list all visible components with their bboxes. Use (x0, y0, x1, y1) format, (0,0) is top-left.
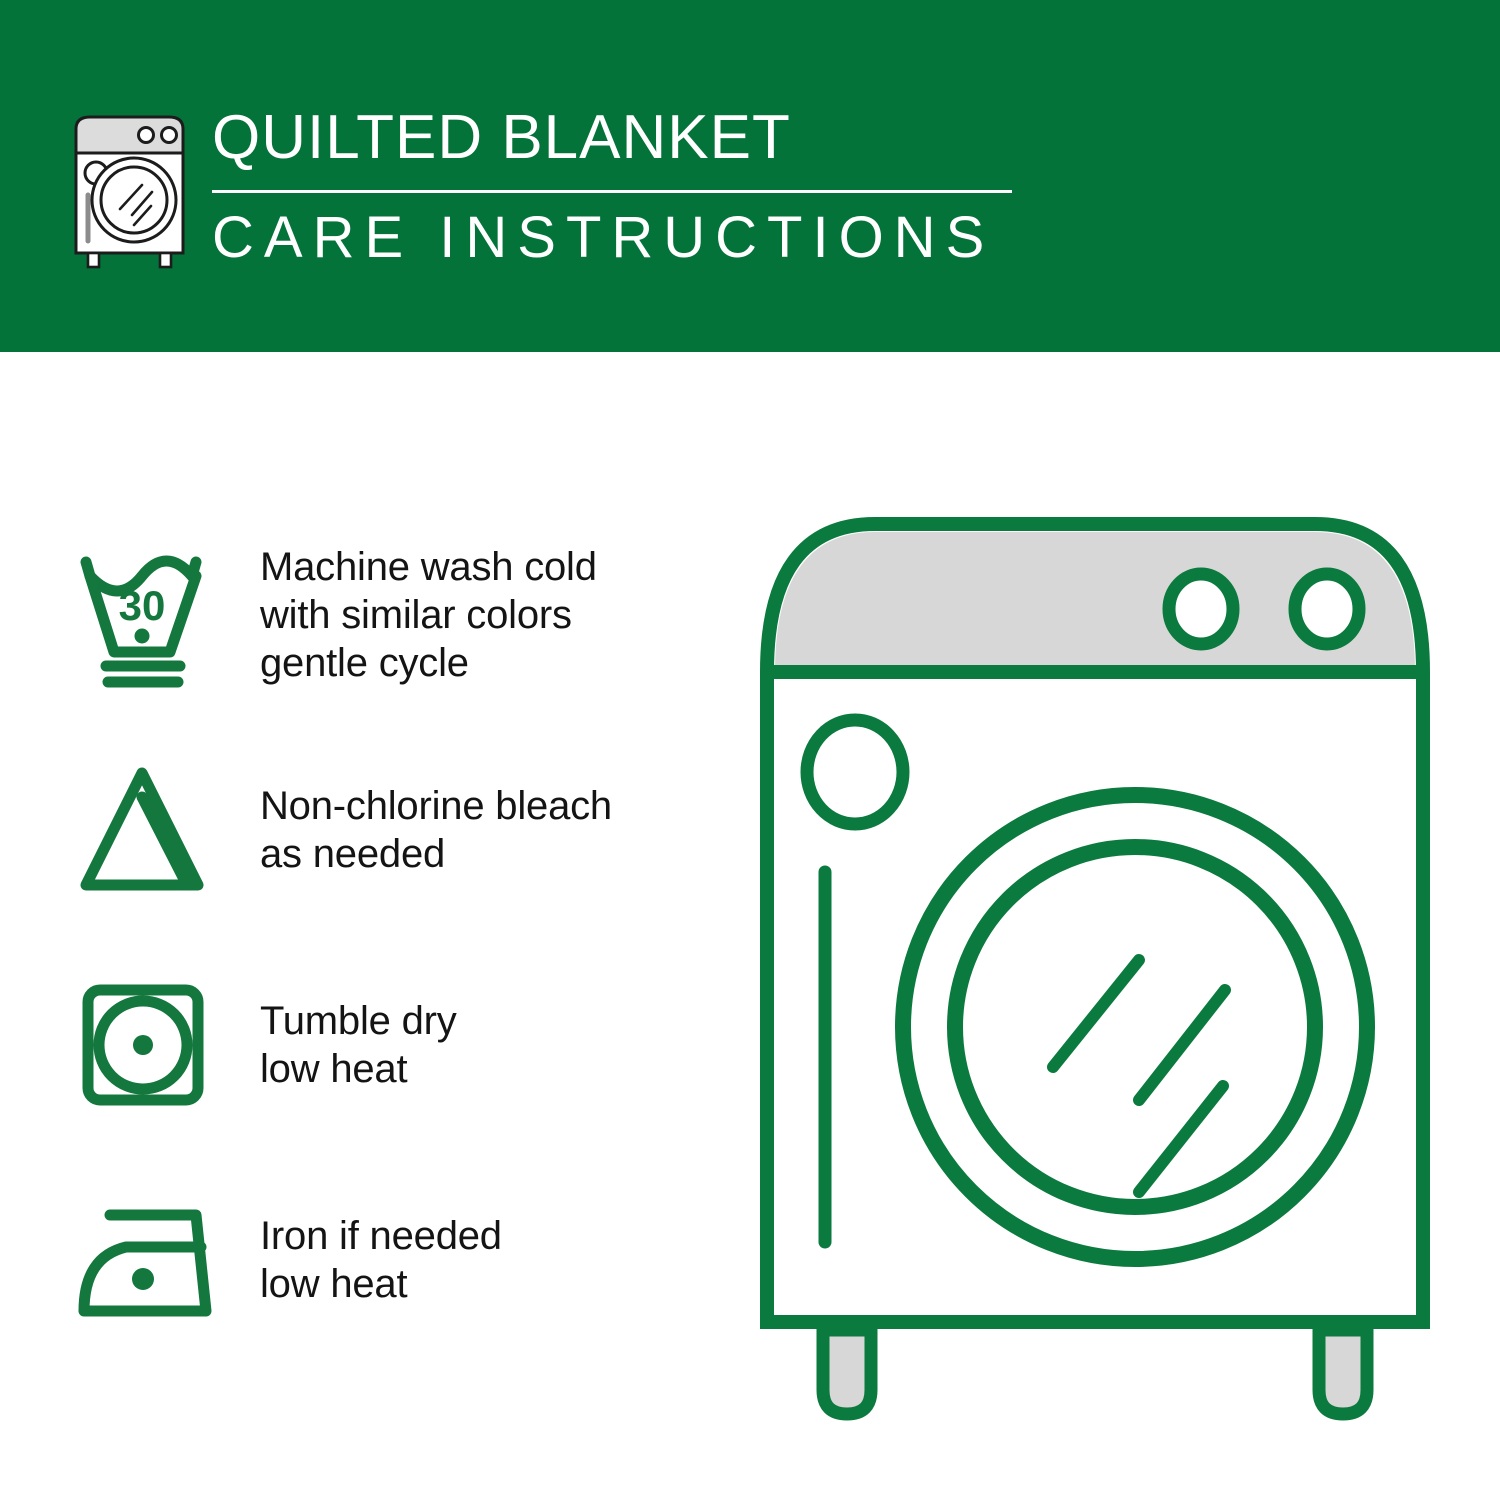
care-line: low heat (260, 1045, 457, 1093)
care-row-bleach: Non-chlorine bleach as needed (70, 722, 710, 937)
washing-machine-illustration (735, 482, 1455, 1422)
care-instructions-infographic: QUILTED BLANKET CARE INSTRUCTIONS (0, 0, 1500, 1500)
page-title: QUILTED BLANKET (212, 100, 1042, 176)
content-area: 30 Machine wash cold with similar colors… (0, 352, 1500, 1500)
header-banner: QUILTED BLANKET CARE INSTRUCTIONS (0, 0, 1500, 352)
care-line: gentle cycle (260, 639, 597, 687)
care-row-tumble-dry: Tumble dry low heat (70, 937, 710, 1152)
non-chlorine-bleach-icon (70, 750, 245, 910)
iron-low-heat-icon (70, 1180, 245, 1340)
care-line: Non-chlorine bleach (260, 782, 612, 830)
care-row-iron: Iron if needed low heat (70, 1152, 710, 1367)
care-text-iron: Iron if needed low heat (260, 1212, 502, 1308)
care-line: as needed (260, 830, 612, 878)
care-line: low heat (260, 1260, 502, 1308)
care-text-machine-wash: Machine wash cold with similar colors ge… (260, 543, 597, 687)
care-line: Iron if needed (260, 1212, 502, 1260)
header-title-block: QUILTED BLANKET CARE INSTRUCTIONS (212, 100, 1042, 271)
control-knob-right[interactable] (1295, 574, 1359, 644)
care-instructions-list: 30 Machine wash cold with similar colors… (70, 507, 710, 1367)
page-subtitle: CARE INSTRUCTIONS (212, 205, 1042, 271)
machine-wash-30-gentle-icon: 30 (70, 535, 245, 695)
machine-leg-right (1319, 1330, 1367, 1414)
drum-door[interactable] (903, 795, 1367, 1259)
machine-leg-left (823, 1330, 871, 1414)
tumble-dry-low-icon (70, 965, 245, 1125)
care-text-bleach: Non-chlorine bleach as needed (260, 782, 612, 878)
care-line: with similar colors (260, 591, 597, 639)
washing-machine-logo-icon (62, 105, 197, 270)
detergent-cap[interactable] (807, 720, 903, 824)
wash-temperature-label: 30 (119, 582, 166, 629)
care-row-machine-wash: 30 Machine wash cold with similar colors… (70, 507, 710, 722)
care-line: Tumble dry (260, 997, 457, 1045)
care-line: Machine wash cold (260, 543, 597, 591)
control-knob-left[interactable] (1169, 574, 1233, 644)
title-divider (212, 190, 1012, 193)
care-text-tumble-dry: Tumble dry low heat (260, 997, 457, 1093)
